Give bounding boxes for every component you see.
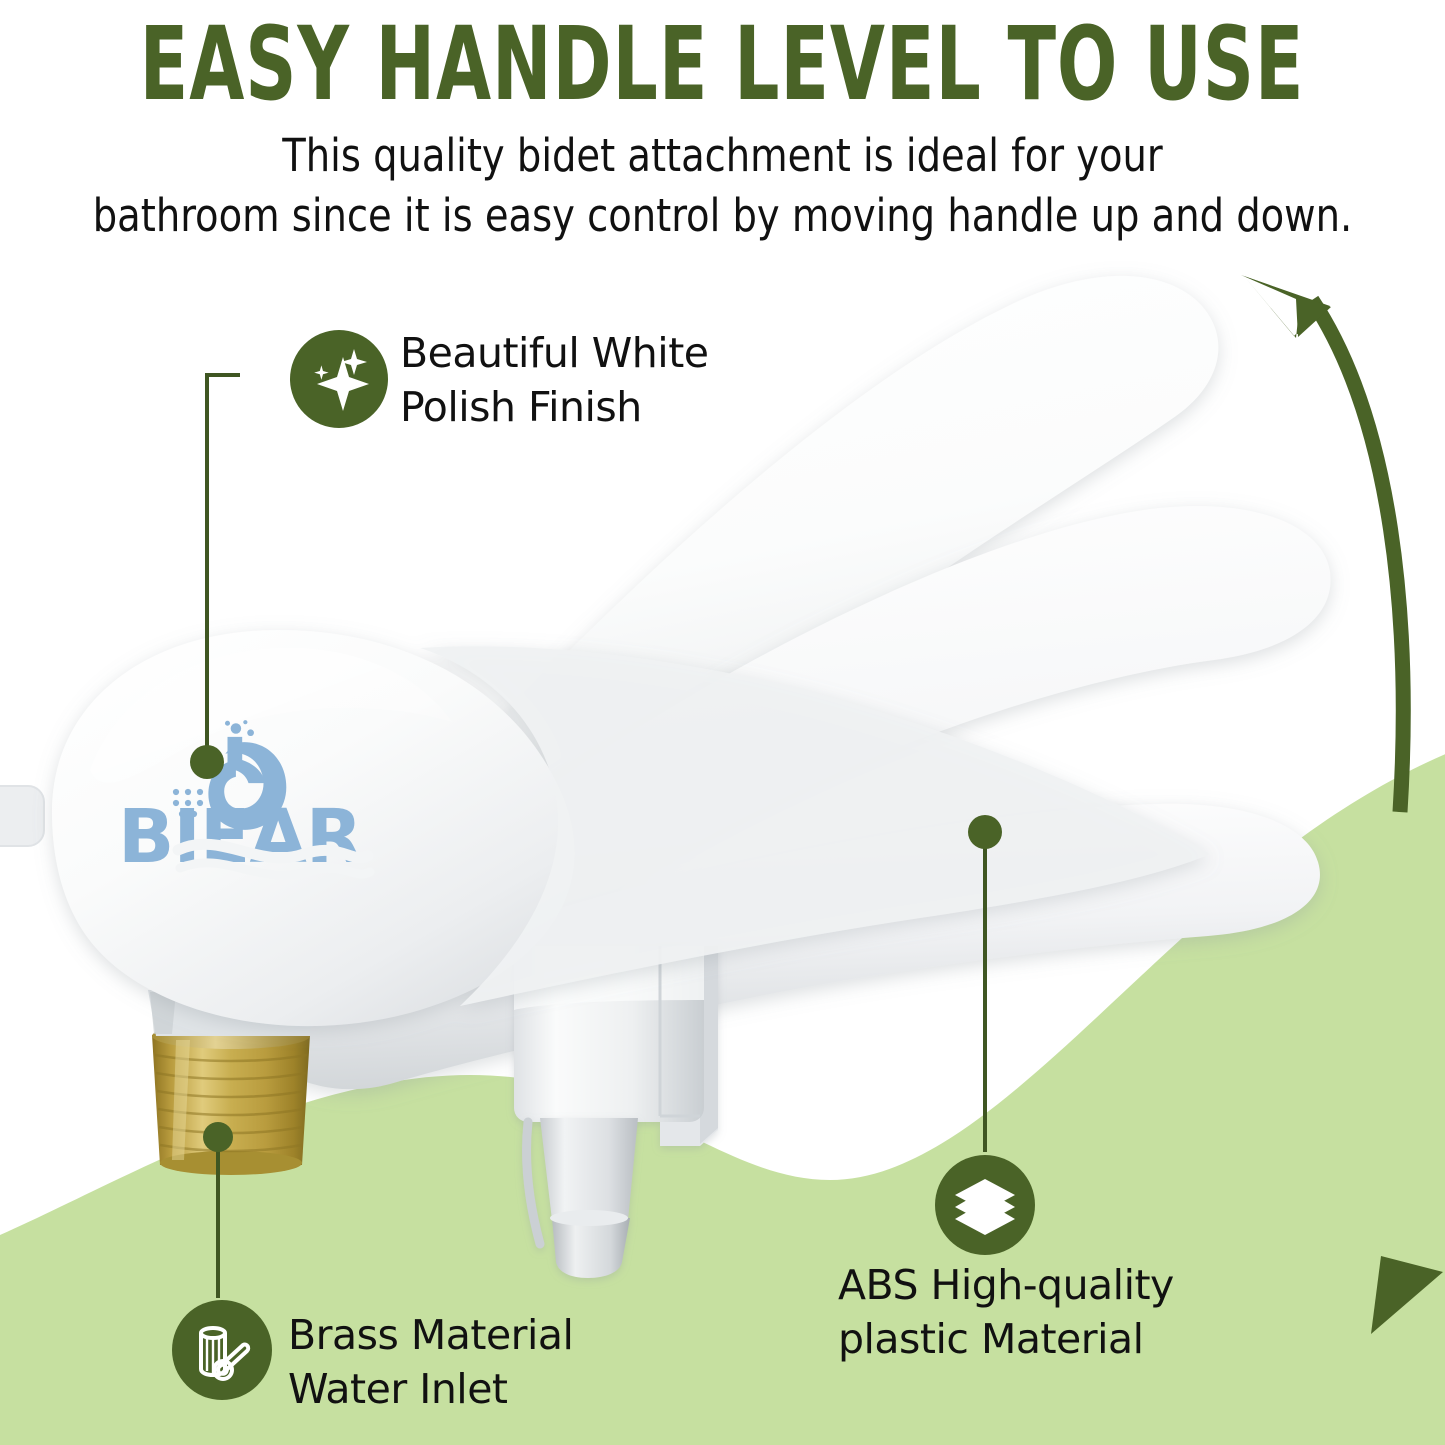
infographic-canvas: EASY HANDLE LEVEL TO USE This quality bi… — [0, 0, 1445, 1445]
callout-abs-line1: ABS High-quality — [838, 1258, 1174, 1312]
layers-badge[interactable] — [935, 1155, 1035, 1255]
callout-abs-text: ABS High-quality plastic Material — [838, 1258, 1174, 1366]
callout-abs-line2: plastic Material — [838, 1312, 1174, 1366]
callout-abs[interactable]: ABS High-quality plastic Material — [0, 0, 1445, 1445]
layers-icon — [949, 1169, 1021, 1241]
